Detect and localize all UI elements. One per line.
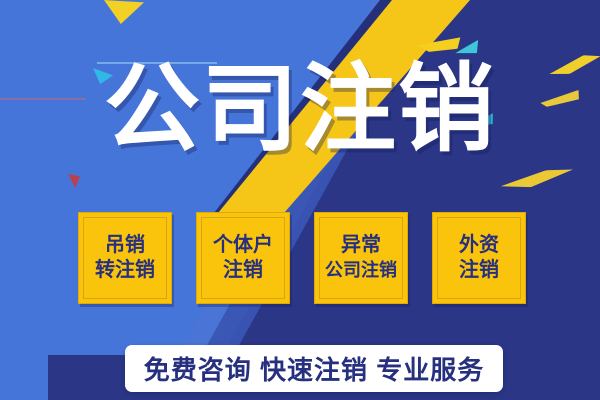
service-chip-row: 吊销 转注销 个体户 注销 异常 公司注销 外资 注销 [78,212,526,304]
service-chip-diaoxiao[interactable]: 吊销 转注销 [78,212,172,304]
chip-label-line2: 注销 [459,258,499,283]
chip-label-line2: 注销 [223,258,263,283]
service-chip-getihu[interactable]: 个体户 注销 [196,212,290,304]
chip-label-line1: 异常 [341,233,381,258]
service-chip-yichang[interactable]: 异常 公司注销 [314,212,408,304]
chip-label-line1: 个体户 [213,233,273,258]
promo-poster: 公司注销 吊销 转注销 个体户 注销 异常 公司注销 外资 注销 免费咨询 快速… [0,0,600,400]
chip-label-line2: 公司注销 [325,258,397,283]
chip-label-line2: 转注销 [95,258,155,283]
service-chip-waizi[interactable]: 外资 注销 [432,212,526,304]
slogan-text: 免费咨询 快速注销 专业服务 [144,350,484,387]
chip-label-line1: 外资 [459,233,499,258]
bottom-slogan-banner[interactable]: 免费咨询 快速注销 专业服务 [125,345,503,392]
chip-label-line1: 吊销 [105,233,145,258]
poster-headline: 公司注销 [0,58,600,162]
